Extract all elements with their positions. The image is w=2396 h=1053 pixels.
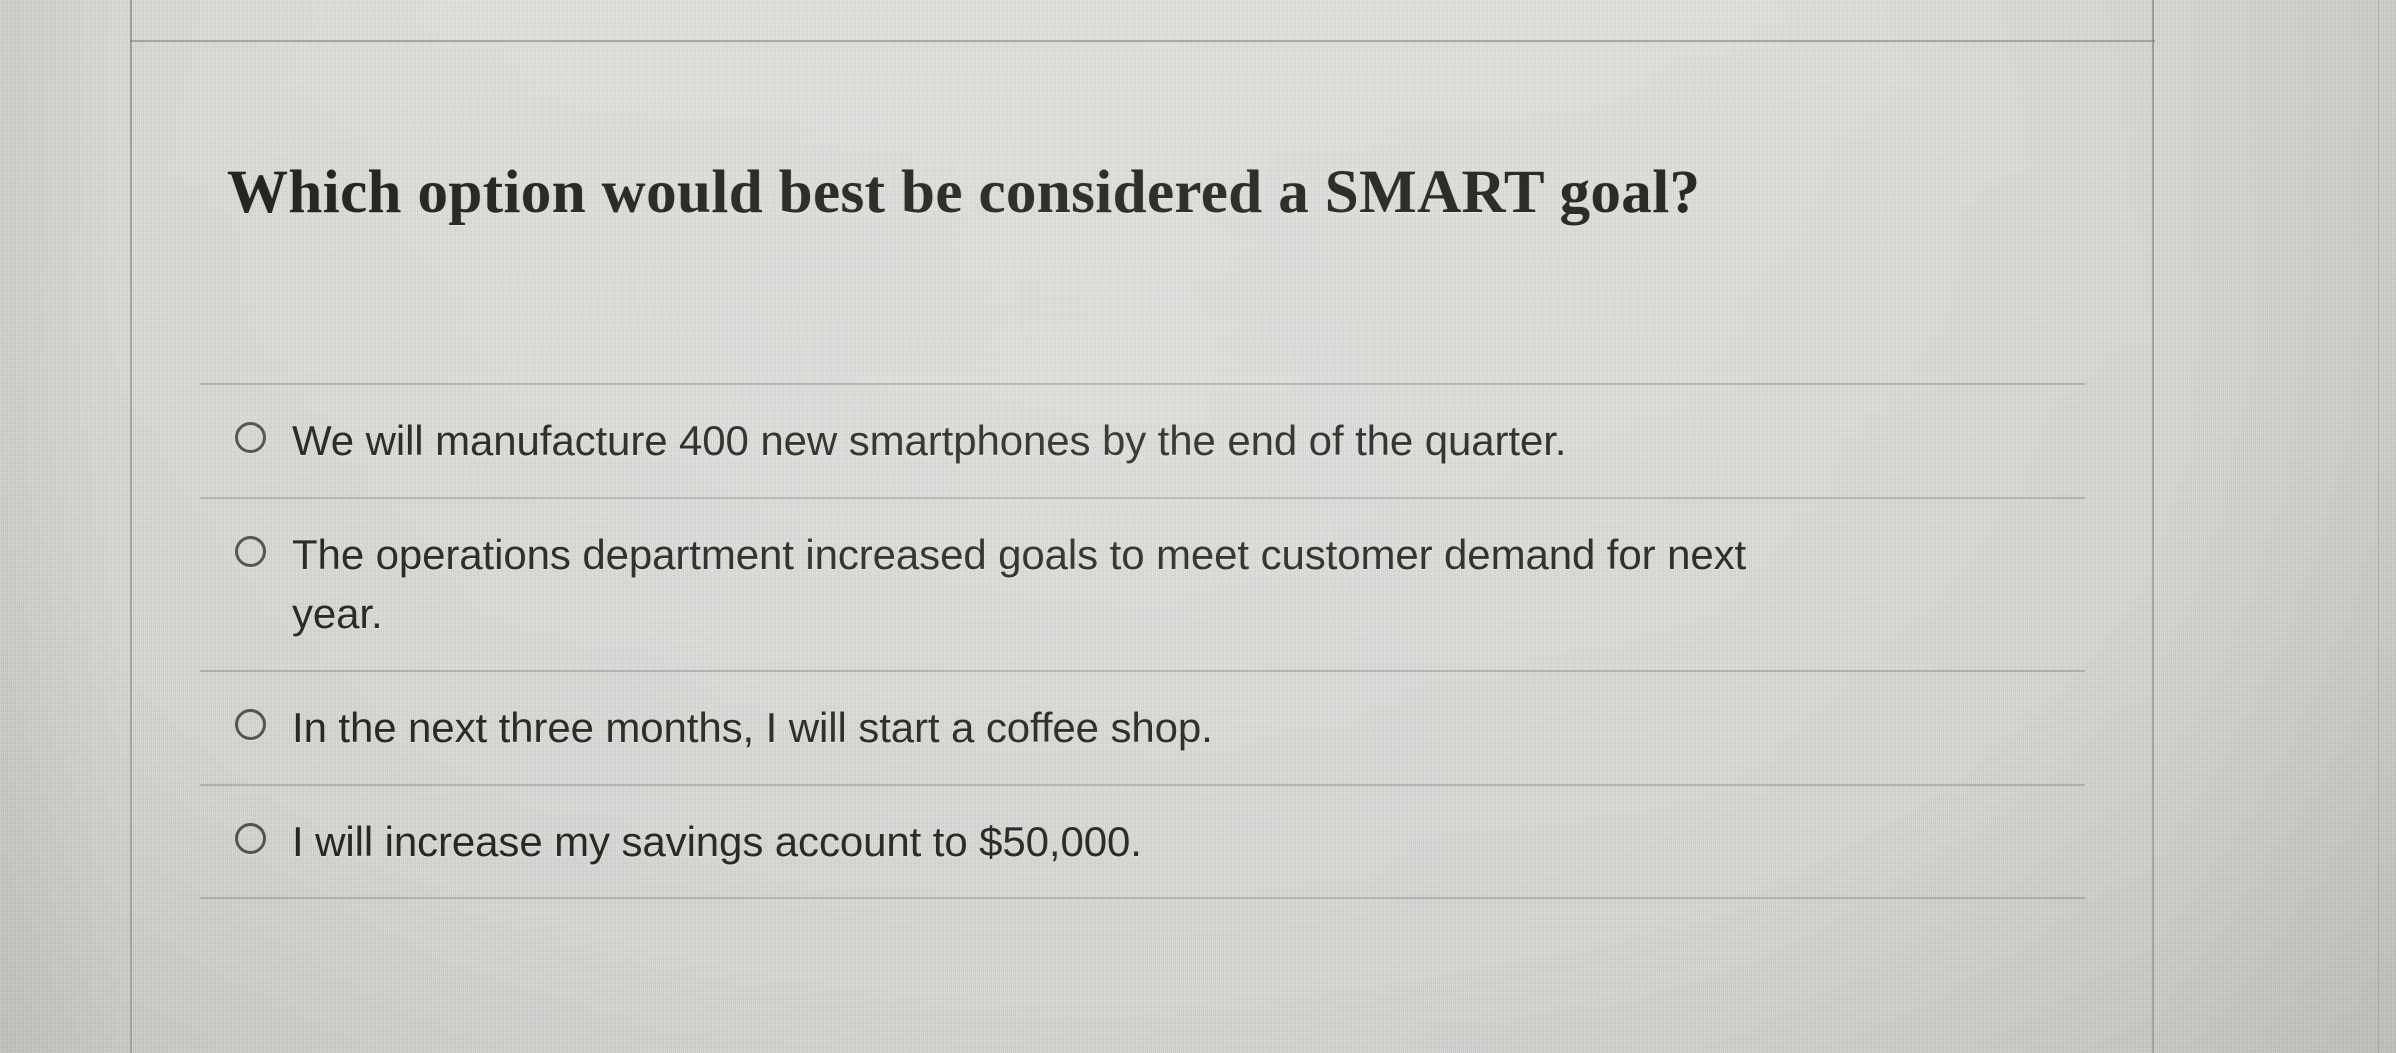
option-row-c[interactable]: In the next three months, I will start a…: [200, 670, 2085, 784]
radio-button-icon-b[interactable]: [235, 536, 266, 567]
option-row-b[interactable]: The operations department increased goal…: [200, 497, 2085, 670]
option-label-c: In the next three months, I will start a…: [292, 698, 1213, 758]
options-list: We will manufacture 400 new smartphones …: [200, 383, 2085, 899]
option-label-a: We will manufacture 400 new smartphones …: [292, 411, 1566, 471]
viewport-right-edge: [2378, 0, 2379, 1053]
option-label-b: The operations department increased goal…: [292, 525, 1832, 644]
radio-button-icon-a[interactable]: [235, 422, 266, 453]
question-content: Which option would best be considered a …: [130, 42, 2152, 1053]
radio-button-icon-c[interactable]: [235, 709, 266, 740]
question-title: Which option would best be considered a …: [227, 161, 1700, 225]
page-right-border: [2152, 0, 2154, 1053]
option-row-d[interactable]: I will increase my savings account to $5…: [200, 784, 2085, 900]
question-screen: Which option would best be considered a …: [0, 0, 2396, 1053]
option-label-d: I will increase my savings account to $5…: [292, 812, 1142, 872]
radio-button-icon-d[interactable]: [235, 823, 266, 854]
option-row-a[interactable]: We will manufacture 400 new smartphones …: [200, 383, 2085, 497]
